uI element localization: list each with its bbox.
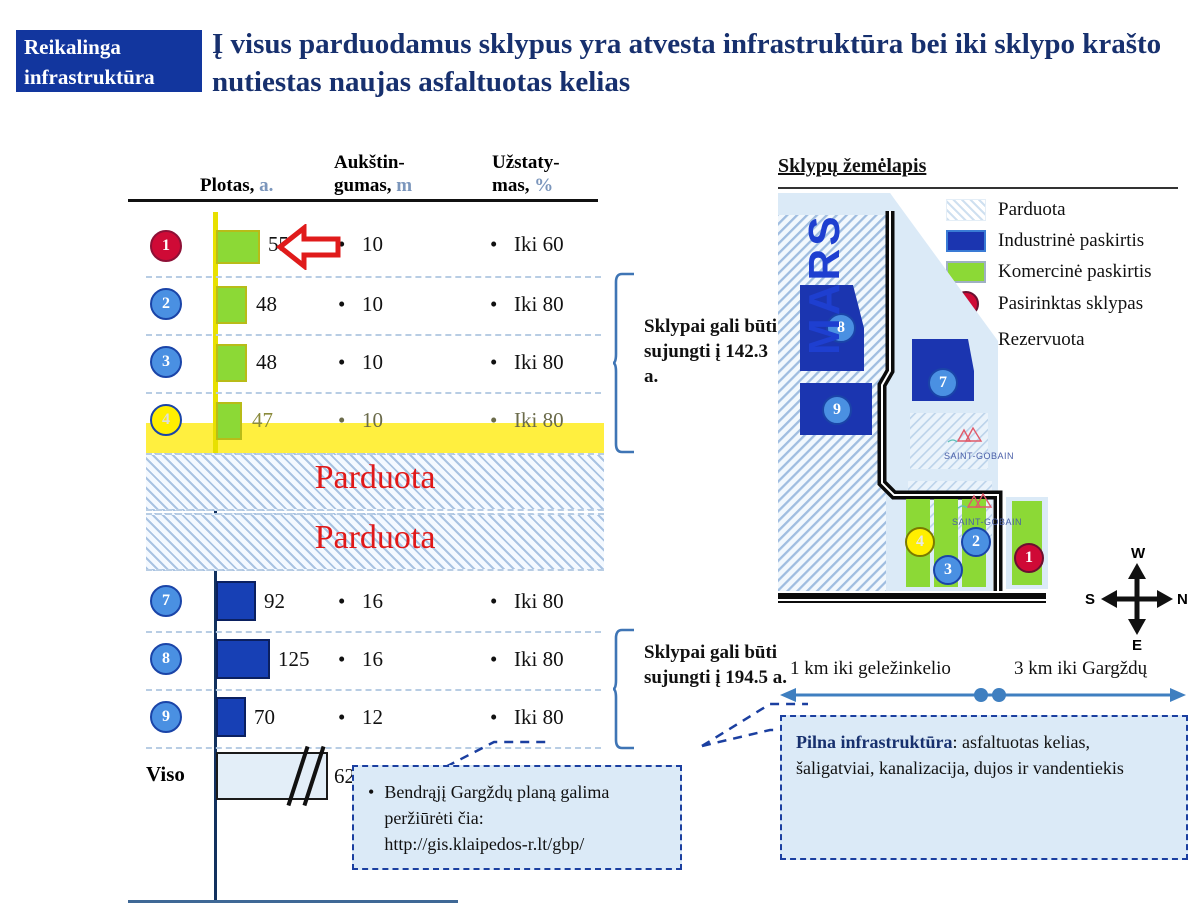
distance-left-label: 1 km iki geležinkelio — [790, 658, 951, 680]
bullet-uzstatymas-4: • — [490, 408, 497, 433]
bullet-uzstatymas-1: • — [490, 232, 497, 257]
saint-gobain-label: SAINT-GOBAIN — [944, 451, 1014, 461]
aukstingumas-line1: Aukštin- — [334, 151, 412, 174]
page-title: Į visus parduodamus sklypus yra atvesta … — [212, 25, 1182, 101]
value-plotas-3: 48 — [256, 350, 277, 375]
distance-right-label: 3 km iki Gargždų — [1014, 658, 1147, 680]
plot-badge-1[interactable]: 1 — [150, 230, 182, 262]
merge-note-top: Sklypai gali būti sujungti į 142.3 a. — [644, 314, 784, 389]
map-marker-9[interactable]: 9 — [822, 395, 852, 425]
compass-rose: W E S N — [1085, 545, 1185, 655]
column-header-aukstingumas: Aukštin- gumas, m — [334, 151, 412, 197]
callout-right-bold: Pilna infrastruktūra — [796, 732, 953, 752]
aukstingumas-line2: gumas, — [334, 175, 392, 196]
plotas-unit: a. — [259, 175, 273, 196]
value-aukstingumas-3: 10 — [362, 350, 383, 375]
plot-badge-9[interactable]: 9 — [150, 701, 182, 733]
value-uzstatymas-4: Iki 80 — [514, 408, 564, 433]
bullet-aukstingumas-2: • — [338, 292, 345, 317]
sold-label: Parduota — [146, 459, 604, 497]
table-row[interactable]: 7 92 • 16 • Iki 80 — [128, 573, 728, 631]
value-plotas-8: 125 — [278, 647, 310, 672]
bullet-aukstingumas-3: • — [338, 350, 345, 375]
value-uzstatymas-9: Iki 80 — [514, 705, 564, 730]
plotas-text: Plotas, — [200, 175, 254, 196]
plot-badge-2[interactable]: 2 — [150, 288, 182, 320]
value-aukstingumas-8: 16 — [362, 647, 383, 672]
value-uzstatymas-7: Iki 80 — [514, 589, 564, 614]
bar-plotas-1 — [216, 230, 260, 264]
callout-left-line2: peržiūrėti čia: — [384, 805, 609, 831]
merge-note-bottom: Sklypai gali būti sujungti į 194.5 a. — [644, 640, 794, 690]
aukstingumas-unit: m — [396, 175, 412, 196]
compass-label-n: N — [1177, 591, 1188, 608]
uzstatymas-unit: % — [534, 175, 553, 196]
bar-plotas-4 — [216, 402, 242, 440]
uzstatymas-line1: Užstaty- — [492, 151, 560, 174]
bar-plotas-2 — [216, 286, 247, 324]
bullet-uzstatymas-7: • — [490, 589, 497, 614]
sold-label: Parduota — [146, 519, 604, 557]
table-row[interactable]: 1 55 • 10 • Iki 60 — [128, 218, 728, 276]
value-aukstingumas-9: 12 — [362, 705, 383, 730]
column-header-plotas: Plotas, a. — [200, 174, 273, 197]
compass-arrows-icon — [1097, 559, 1177, 639]
value-aukstingumas-1: 10 — [362, 232, 383, 257]
map-marker-4[interactable]: 4 — [905, 527, 935, 557]
saint-gobain-logo-icon — [950, 489, 1012, 519]
column-header-uzstatymas: Užstaty- mas, % — [492, 151, 560, 197]
callout-full-infrastructure[interactable]: Pilna infrastruktūra: asfaltuotas kelias… — [780, 715, 1188, 860]
map-marker-7[interactable]: 7 — [928, 368, 958, 398]
bullet-uzstatymas-3: • — [490, 350, 497, 375]
value-plotas-2: 48 — [256, 292, 277, 317]
value-uzstatymas-1: Iki 60 — [514, 232, 564, 257]
bar-plotas-7 — [216, 581, 256, 621]
map-title: Sklypų žemėlapis — [778, 155, 926, 178]
saint-gobain-label: SAINT-GOBAIN — [952, 517, 1022, 527]
table-row[interactable]: 9 70 • 12 • Iki 80 — [128, 689, 728, 747]
callout-left-url[interactable]: http://gis.klaipedos-r.lt/gbp/ — [384, 831, 609, 857]
sold-row-2: Parduota — [146, 513, 604, 571]
table-row[interactable]: 3 48 • 10 • Iki 80 — [128, 334, 728, 392]
bullet-uzstatymas-8: • — [490, 647, 497, 672]
value-aukstingumas-2: 10 — [362, 292, 383, 317]
distance-arrow-scale — [778, 683, 1188, 707]
header-divider — [128, 199, 598, 202]
merge-brace-top — [612, 272, 638, 454]
mars-company-label: MARS — [800, 213, 850, 355]
sold-row-1: Parduota — [146, 453, 604, 511]
map-marker-1[interactable]: 1 — [1014, 543, 1044, 573]
red-pointer-arrow — [276, 224, 342, 270]
table-row[interactable]: 8 125 • 16 • Iki 80 — [128, 631, 728, 689]
section-tag-badge: Reikalinga infrastruktūra — [16, 30, 202, 92]
bar-plotas-9 — [216, 697, 246, 737]
value-plotas-7: 92 — [264, 589, 285, 614]
value-plotas-9: 70 — [254, 705, 275, 730]
plot-badge-7[interactable]: 7 — [150, 585, 182, 617]
callout-left-line1: Bendrąjį Gargždų planą galima — [384, 779, 609, 805]
plot-badge-8[interactable]: 8 — [150, 643, 182, 675]
plot-badge-3[interactable]: 3 — [150, 346, 182, 378]
bullet-uzstatymas-2: • — [490, 292, 497, 317]
bullet-uzstatymas-9: • — [490, 705, 497, 730]
bullet-aukstingumas-9: • — [338, 705, 345, 730]
bullet-aukstingumas-4: • — [338, 408, 345, 433]
callout-bullet: • — [368, 779, 374, 857]
compass-label-w: W — [1131, 545, 1145, 562]
value-plotas-4: 47 — [252, 408, 273, 433]
total-label: Viso — [146, 762, 185, 787]
merge-brace-bottom — [612, 628, 638, 750]
value-aukstingumas-7: 16 — [362, 589, 383, 614]
bar-plotas-8 — [216, 639, 270, 679]
callout-general-plan[interactable]: • Bendrąjį Gargždų planą galima peržiūrė… — [352, 765, 682, 870]
value-uzstatymas-2: Iki 80 — [514, 292, 564, 317]
map-marker-2[interactable]: 2 — [961, 527, 991, 557]
saint-gobain-logo-icon — [940, 423, 1002, 453]
bar-plotas-3 — [216, 344, 247, 382]
value-aukstingumas-4: 10 — [362, 408, 383, 433]
bullet-aukstingumas-8: • — [338, 647, 345, 672]
map-marker-3[interactable]: 3 — [933, 555, 963, 585]
map-title-divider — [778, 187, 1178, 189]
compass-label-s: S — [1085, 591, 1095, 608]
plots-table: Plotas, a. Aukštin- gumas, m Užstaty- ma… — [128, 150, 748, 830]
value-uzstatymas-8: Iki 80 — [514, 647, 564, 672]
compass-label-e: E — [1132, 637, 1142, 654]
value-uzstatymas-3: Iki 80 — [514, 350, 564, 375]
table-row[interactable]: 4 47 • 10 • Iki 80 — [128, 392, 728, 450]
table-row[interactable]: 2 48 • 10 • Iki 80 — [128, 276, 728, 334]
uzstatymas-line2: mas, — [492, 175, 529, 196]
plot-badge-4[interactable]: 4 — [150, 404, 182, 436]
bullet-aukstingumas-7: • — [338, 589, 345, 614]
